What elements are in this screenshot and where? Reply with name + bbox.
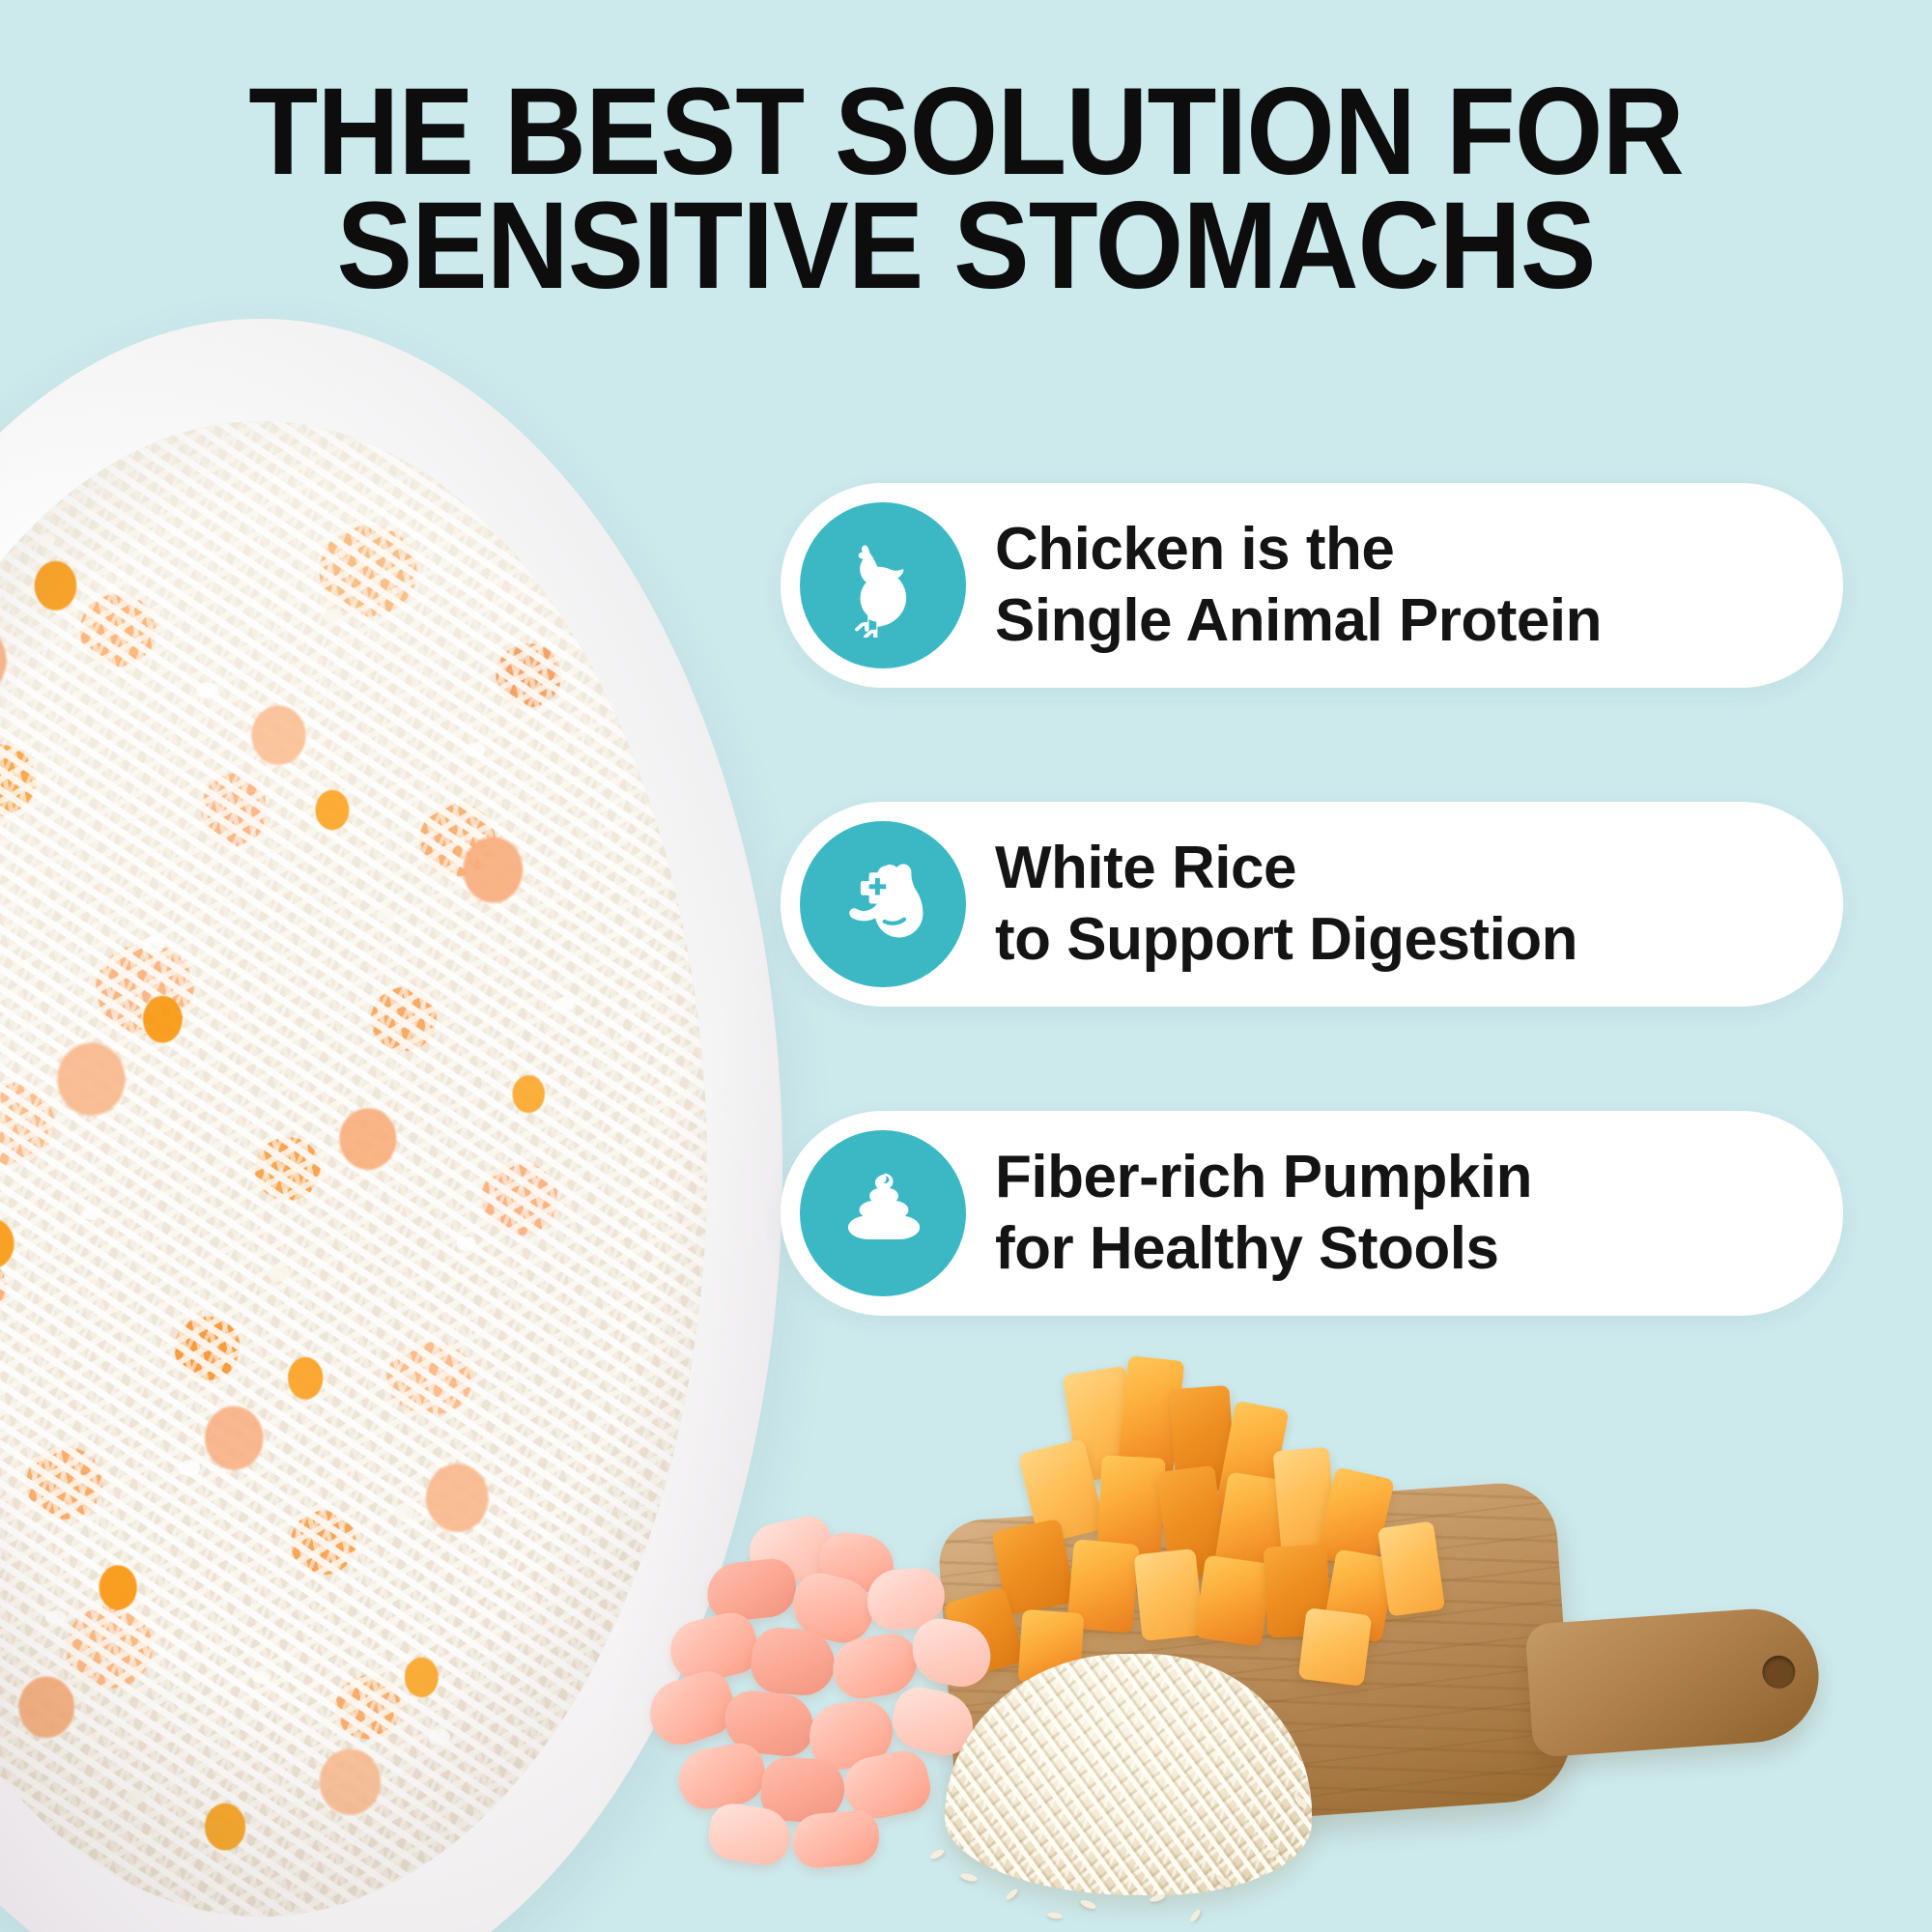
rice-pile — [925, 1634, 1331, 1924]
chicken-icon — [800, 502, 966, 668]
feature-chicken-line-2: Single Animal Protein — [995, 585, 1602, 657]
stool-icon — [800, 1130, 966, 1296]
bowl-contents — [0, 421, 707, 1918]
feature-pill-white-rice[interactable]: White Rice to Support Digestion — [781, 802, 1843, 1007]
ingredients-image — [667, 1381, 1932, 1932]
feature-pill-chicken[interactable]: Chicken is the Single Animal Protein — [781, 483, 1843, 688]
page-title: THE BEST SOLUTION FOR SENSITIVE STOMACHS — [77, 75, 1855, 303]
feature-pumpkin-line-1: Fiber-rich Pumpkin — [995, 1142, 1532, 1213]
feature-chicken-line-1: Chicken is the — [995, 514, 1602, 585]
feature-pumpkin-line-2: for Healthy Stools — [995, 1213, 1532, 1285]
feature-rice-line-2: to Support Digestion — [995, 904, 1577, 976]
rice-grain-texture — [945, 1654, 1312, 1895]
headline-line-2: SENSITIVE STOMACHS — [77, 189, 1855, 303]
food-inner-shadow — [0, 421, 707, 1918]
feature-pill-pumpkin[interactable]: Fiber-rich Pumpkin for Healthy Stools — [781, 1111, 1843, 1316]
promo-graphic: THE BEST SOLUTION FOR SENSITIVE STOMACHS… — [0, 0, 1932, 1932]
headline-line-1: THE BEST SOLUTION FOR — [77, 75, 1855, 189]
stomach-health-icon — [800, 821, 966, 987]
feature-rice-line-1: White Rice — [995, 833, 1577, 904]
feature-label-white-rice: White Rice to Support Digestion — [995, 833, 1577, 976]
feature-label-chicken: Chicken is the Single Animal Protein — [995, 514, 1602, 657]
feature-label-pumpkin: Fiber-rich Pumpkin for Healthy Stools — [995, 1142, 1532, 1285]
